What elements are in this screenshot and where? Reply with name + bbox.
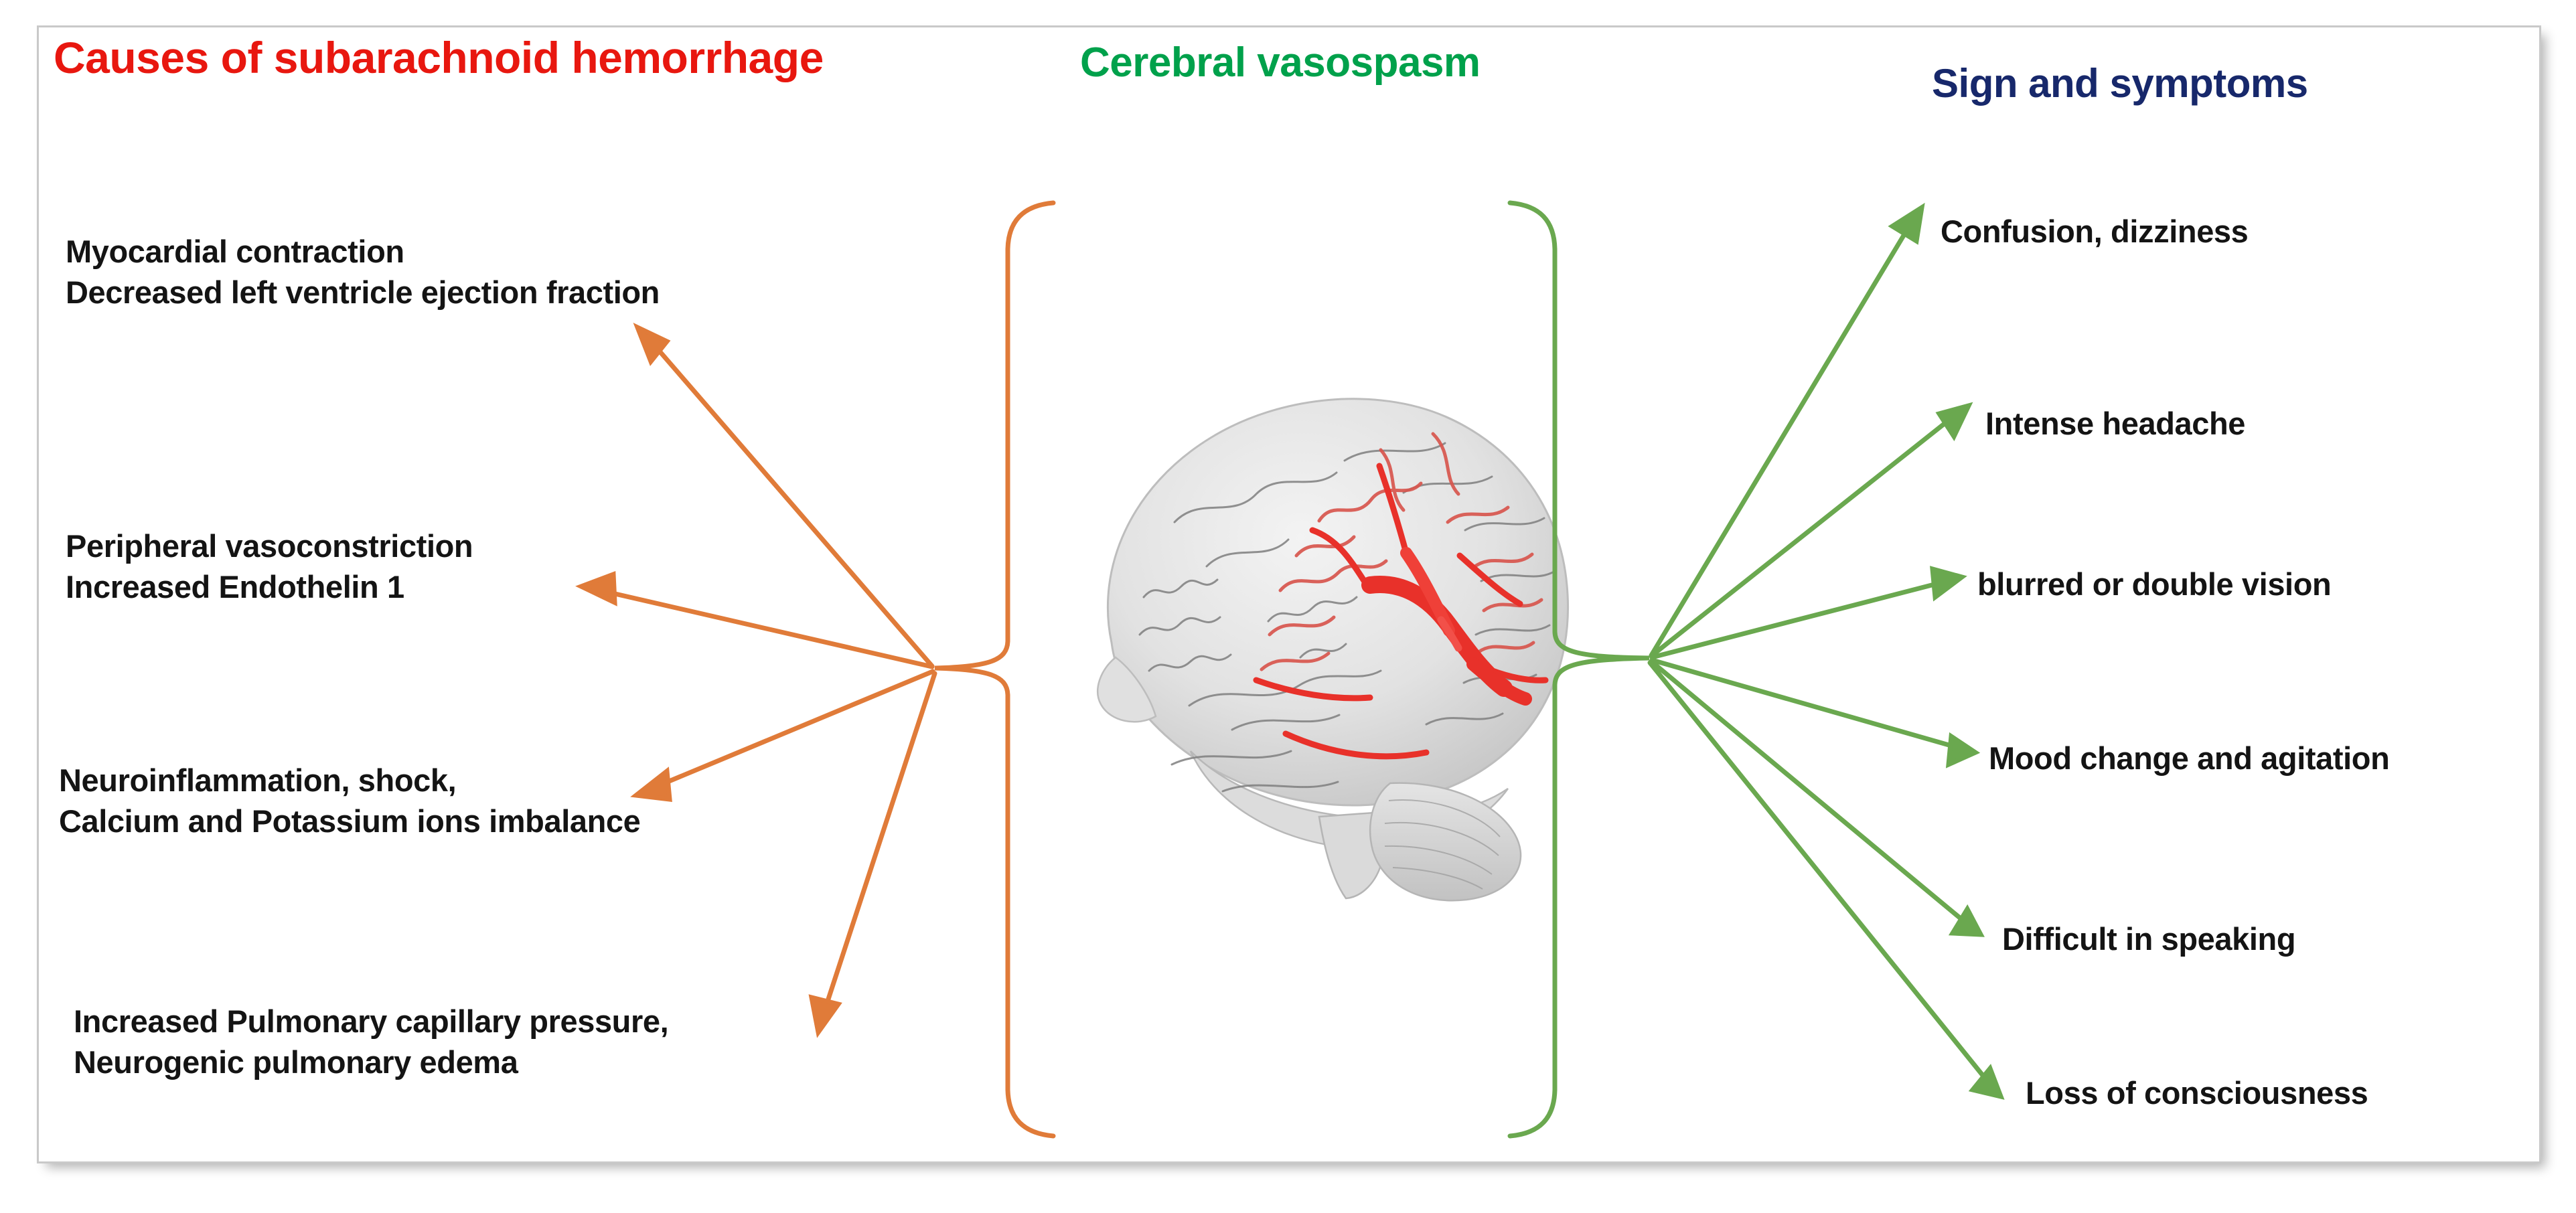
symptom-item: Difficult in speaking xyxy=(2002,920,2295,957)
page-title-causes: Causes of subarachnoid hemorrhage xyxy=(54,32,824,83)
cause-line: Neurogenic pulmonary edema xyxy=(74,1042,668,1082)
symptom-item: Loss of consciousness xyxy=(2026,1074,2368,1111)
symptom-item: Intense headache xyxy=(1985,405,2245,442)
cerebrum-outline xyxy=(1108,399,1568,805)
cause-line: Myocardial contraction xyxy=(66,231,660,272)
cause-line: Peripheral vasoconstriction xyxy=(66,525,473,566)
cause-item: Peripheral vasoconstriction Increased En… xyxy=(66,525,473,607)
page-title-cerebral-vasospasm: Cerebral vasospasm xyxy=(1080,39,1481,86)
cause-line: Increased Endothelin 1 xyxy=(66,566,473,607)
symptom-item: Mood change and agitation xyxy=(1989,740,2389,777)
diagram-canvas: Causes of subarachnoid hemorrhage Cerebr… xyxy=(0,0,2576,1213)
cause-line: Increased Pulmonary capillary pressure, xyxy=(74,1001,668,1042)
symptom-item: blurred or double vision xyxy=(1977,566,2331,602)
cause-item: Myocardial contraction Decreased left ve… xyxy=(66,231,660,313)
cause-item: Neuroinflammation, shock, Calcium and Po… xyxy=(59,760,640,841)
cause-line: Decreased left ventricle ejection fracti… xyxy=(66,272,660,313)
cause-line: Neuroinflammation, shock, xyxy=(59,760,640,801)
cause-item: Increased Pulmonary capillary pressure, … xyxy=(74,1001,668,1082)
brain-lateral-view-illustration xyxy=(1031,355,1620,917)
symptom-item: Confusion, dizziness xyxy=(1941,213,2248,250)
page-title-signs-and-symptoms: Sign and symptoms xyxy=(1932,60,2308,106)
cause-line: Calcium and Potassium ions imbalance xyxy=(59,801,640,841)
